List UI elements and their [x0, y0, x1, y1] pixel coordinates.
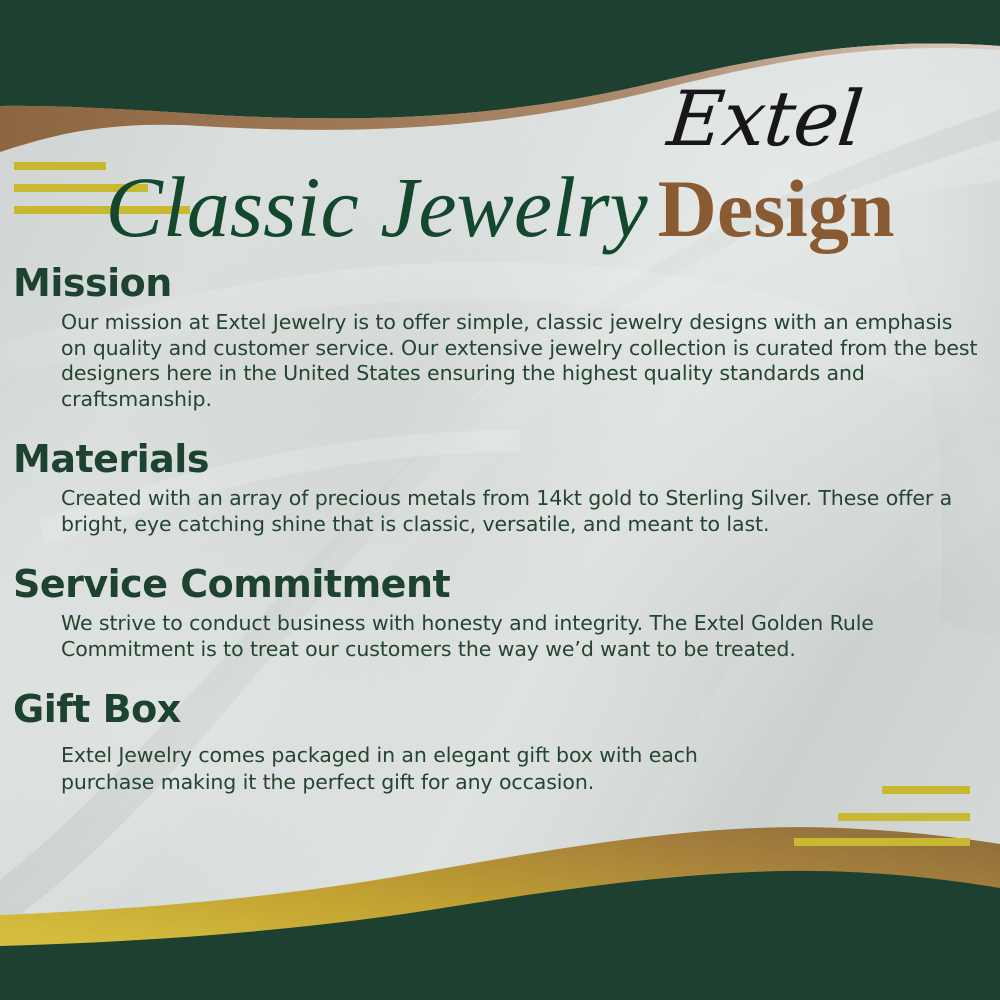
- section-service-commitment: Service Commitment We strive to conduct …: [0, 559, 1000, 662]
- section-heading-gift-box: Gift Box: [13, 684, 1000, 734]
- deco-line-6: [794, 838, 970, 846]
- section-mission: Mission Our mission at Extel Jewelry is …: [0, 258, 1000, 412]
- section-heading-mission: Mission: [13, 258, 1000, 308]
- brand-logo: Extel: [595, 74, 934, 164]
- section-body-mission: Our mission at Extel Jewelry is to offer…: [61, 310, 980, 412]
- section-heading-materials: Materials: [13, 434, 1000, 484]
- decorative-lines-bottom-right: [794, 786, 970, 846]
- title-main-text: Classic Jewelry: [105, 159, 647, 255]
- section-body-gift-box: Extel Jewelry comes packaged in an elega…: [61, 742, 750, 796]
- section-gift-box: Gift Box Extel Jewelry comes packaged in…: [0, 684, 1000, 796]
- section-body-service-commitment: We strive to conduct business with hones…: [61, 611, 980, 662]
- page-title: Classic JewelryDesign: [0, 158, 1000, 256]
- section-body-materials: Created with an array of precious metals…: [61, 486, 980, 537]
- deco-line-5: [838, 813, 970, 821]
- poster-canvas: Extel Classic JewelryDesign Mission Our …: [0, 0, 1000, 1000]
- deco-line-4: [882, 786, 970, 794]
- content-sections: Mission Our mission at Extel Jewelry is …: [0, 258, 1000, 800]
- section-heading-service-commitment: Service Commitment: [13, 559, 1000, 609]
- title-accent-text: Design: [658, 163, 895, 254]
- section-materials: Materials Created with an array of preci…: [0, 434, 1000, 537]
